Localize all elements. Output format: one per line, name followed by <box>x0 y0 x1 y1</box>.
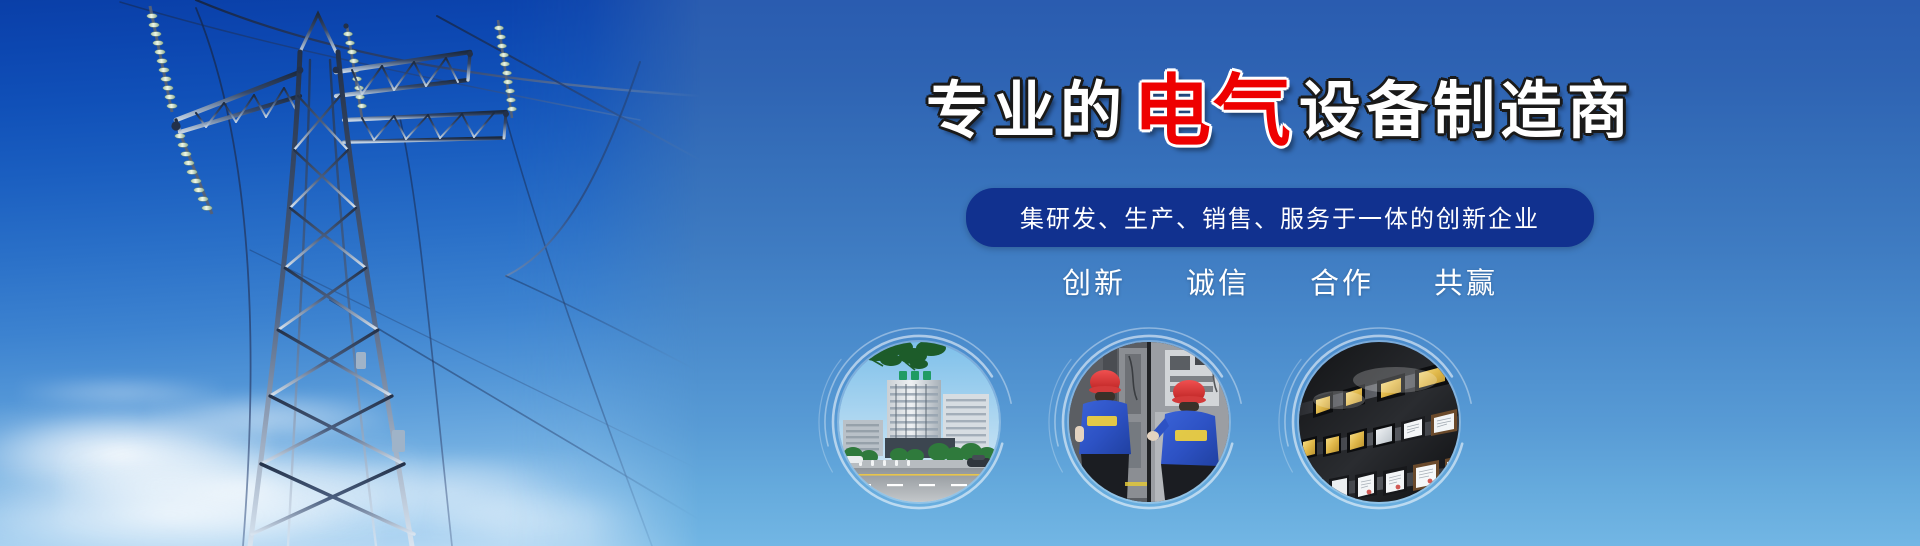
banner-content: 专业的电气设备制造商 集研发、生产、销售、服务于一体的创新企业 创新诚信合作共赢 <box>640 0 1920 546</box>
photo-circle-row <box>640 318 1920 546</box>
transmission-tower-photo <box>0 0 700 546</box>
certificates-wall-photo <box>1299 342 1459 502</box>
circle-workers-electrical-panel[interactable] <box>1035 318 1263 546</box>
keyword-integrity: 诚信 <box>1186 260 1250 302</box>
page-title: 专业的电气设备制造商 <box>640 72 1920 150</box>
keyword-win-win: 共赢 <box>1434 260 1498 302</box>
circle-office-building[interactable] <box>805 318 1033 546</box>
headline-part-1: 专业的 <box>926 81 1127 143</box>
office-building-photo <box>839 342 999 502</box>
subtitle-pill-container: 集研发、生产、销售、服务于一体的创新企业 <box>640 188 1920 247</box>
headline-accent: 电气 <box>1133 72 1293 150</box>
subtitle-pill: 集研发、生产、销售、服务于一体的创新企业 <box>966 188 1594 247</box>
workers-electrical-panel-photo <box>1069 342 1229 502</box>
transmission-tower-graphic <box>0 0 700 546</box>
hero-banner: 专业的电气设备制造商 集研发、生产、销售、服务于一体的创新企业 创新诚信合作共赢 <box>0 0 1920 546</box>
keyword-innovation: 创新 <box>1062 260 1126 302</box>
headline-part-2: 设备制造商 <box>1299 81 1634 143</box>
keyword-row: 创新诚信合作共赢 <box>640 260 1920 302</box>
keyword-cooperation: 合作 <box>1310 260 1374 302</box>
circle-certificates-wall[interactable] <box>1265 318 1493 546</box>
